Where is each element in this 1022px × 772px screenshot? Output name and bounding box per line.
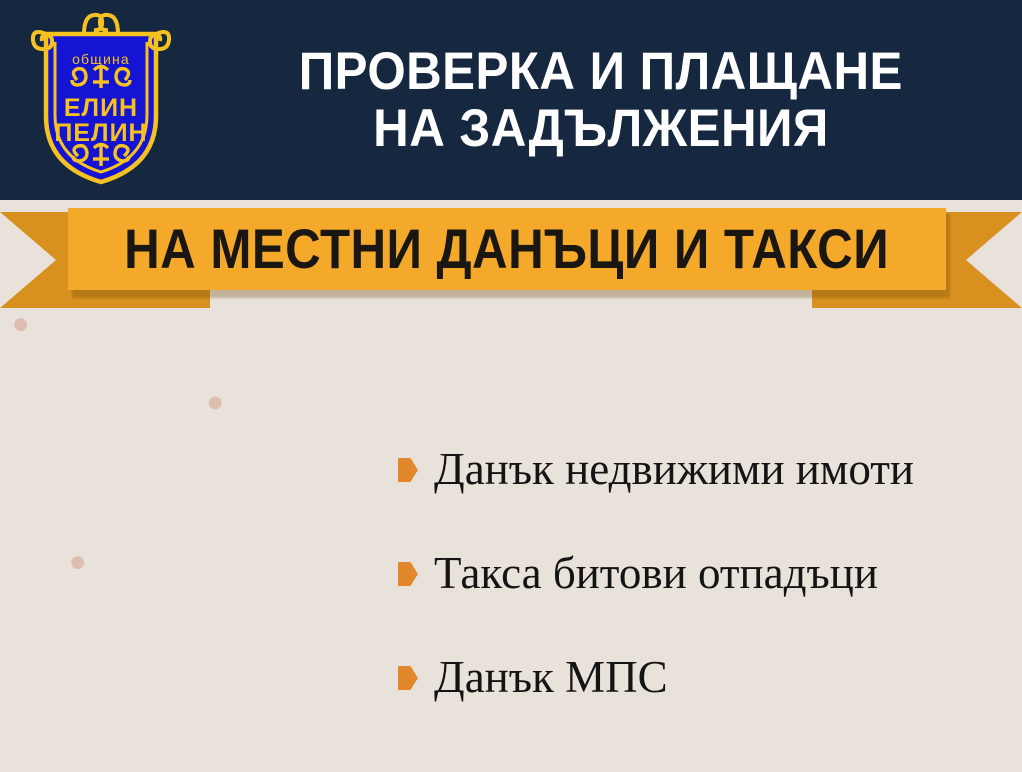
ribbon-band: НА МЕСТНИ ДАНЪЦИ И ТАКСИ [68, 208, 946, 290]
car-front-icon [132, 577, 274, 706]
obligation-type-list: Данък недвижими имоти Такса битови отпад… [398, 418, 1022, 730]
list-item[interactable]: Данък недвижими имоти [398, 418, 1022, 522]
page-title-line-2: НА ЗАДЪЛЖЕНИЯ [373, 101, 829, 156]
page-title-line-1: ПРОВЕРКА И ПЛАЩАНЕ [299, 44, 903, 99]
svg-text:ЕЛИН: ЕЛИН [64, 94, 138, 122]
poster-canvas: община ЕЛИН ПЕЛИН [0, 0, 1022, 772]
ribbon-banner: НА МЕСТНИ ДАНЪЦИ И ТАКСИ [0, 200, 1022, 308]
arrow-bullet-icon [398, 666, 418, 690]
stamp-paper [35, 327, 213, 505]
header-title-block: ПРОВЕРКА И ПЛАЩАНЕ НА ЗАДЪЛЖЕНИЯ [180, 0, 1022, 200]
stamp-card-property [14, 306, 234, 526]
list-item-label: Такса битови отпадъци [434, 549, 878, 599]
list-item[interactable]: Такса битови отпадъци [398, 522, 1022, 626]
list-item-label: Данък недвижими имоти [434, 445, 914, 495]
stamp-card-group [0, 300, 420, 772]
header-bar: община ЕЛИН ПЕЛИН [0, 0, 1022, 200]
house-icon [61, 356, 188, 475]
svg-text:община: община [72, 51, 130, 67]
list-item-label: Данък МПС [434, 653, 668, 703]
list-item[interactable]: Данък МПС [398, 626, 1022, 730]
arrow-bullet-icon [398, 562, 418, 586]
arrow-bullet-icon [398, 458, 418, 482]
emblem: община ЕЛИН ПЕЛИН [22, 8, 180, 188]
ribbon-subtitle: НА МЕСТНИ ДАНЪЦИ И ТАКСИ [125, 221, 890, 277]
